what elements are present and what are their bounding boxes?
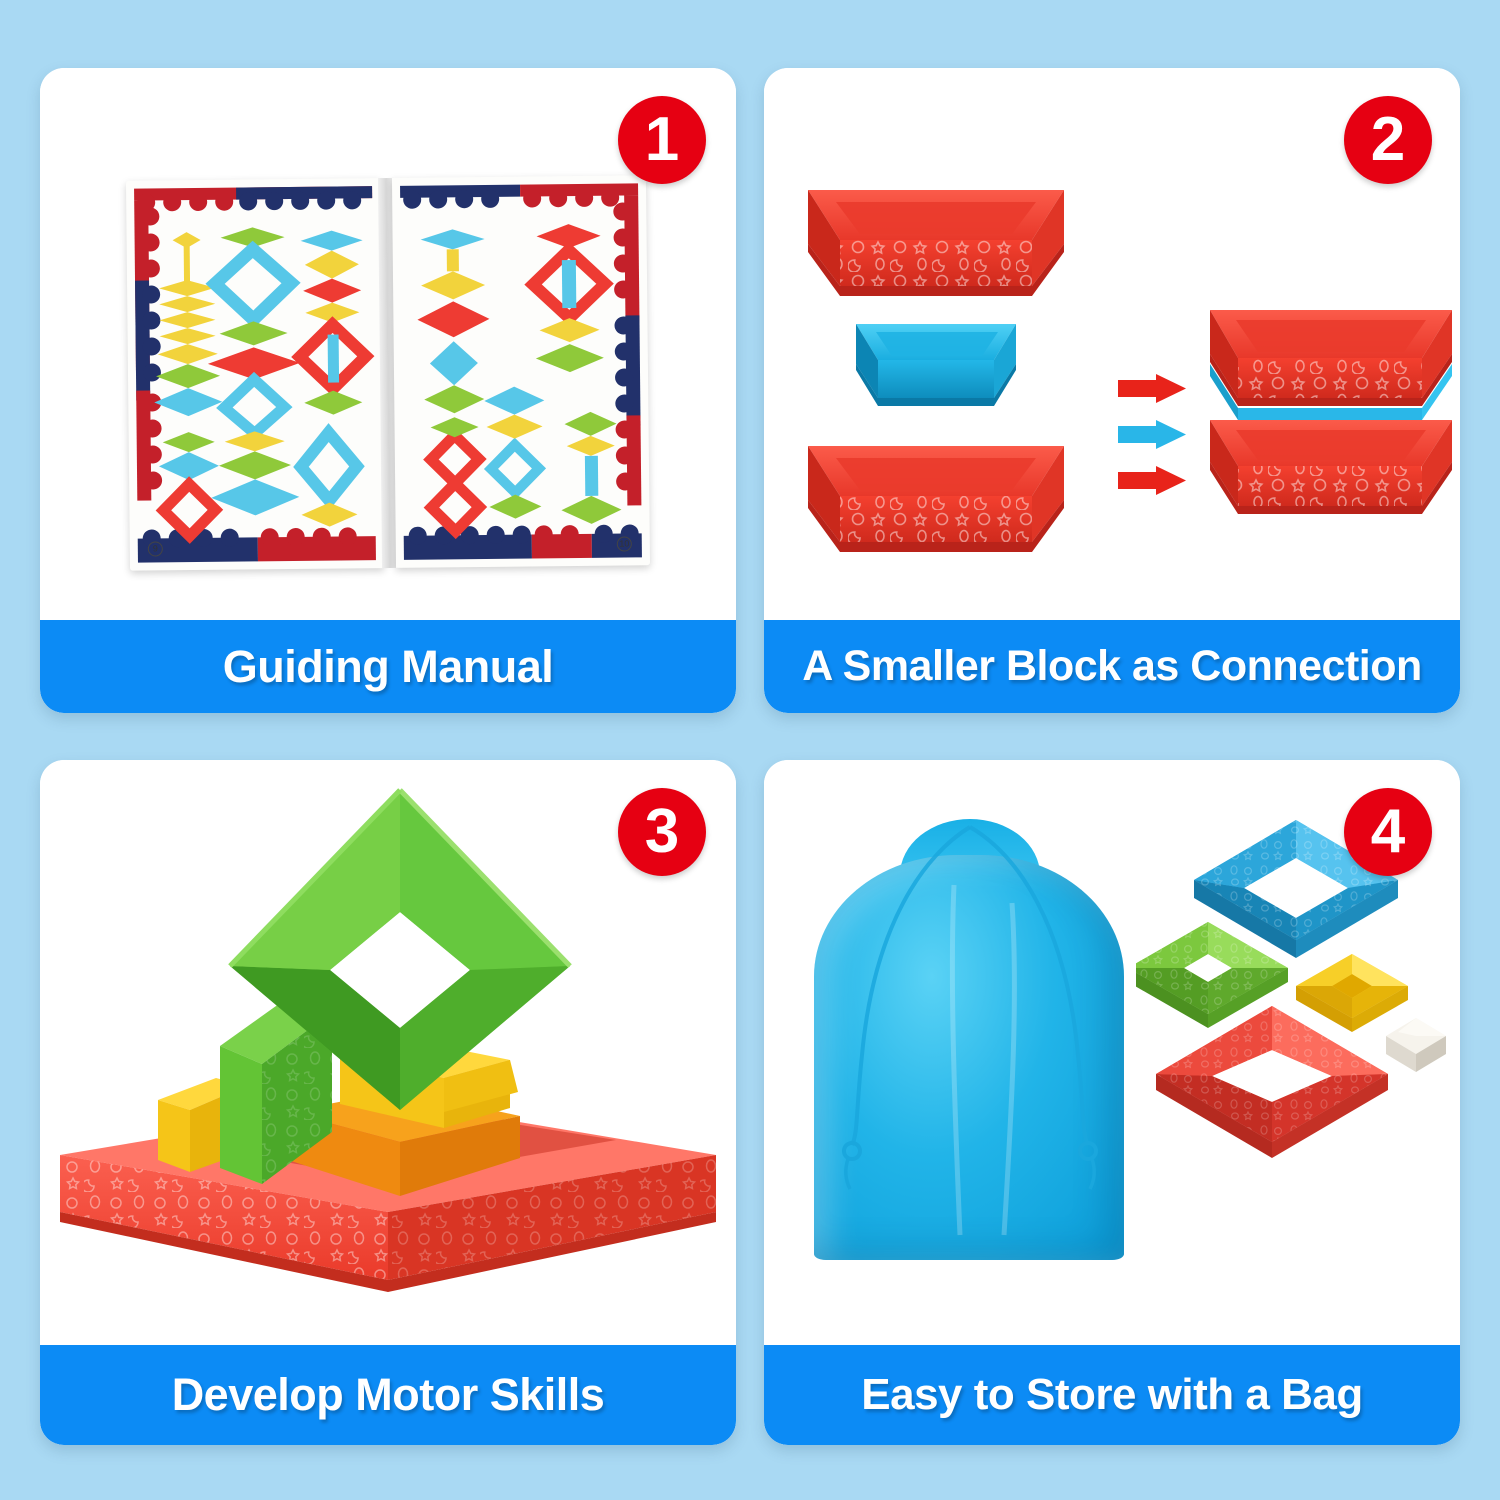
step-badge-3: 3 bbox=[618, 788, 706, 876]
feature-card-4: 4 bbox=[764, 760, 1460, 1445]
caption-bar-2: A Smaller Block as Connection bbox=[764, 620, 1460, 713]
caption-text-2: A Smaller Block as Connection bbox=[802, 642, 1422, 691]
panel-1-image-stage: 1 bbox=[40, 68, 736, 620]
red-block-bottom bbox=[808, 446, 1064, 552]
caption-text-4: Easy to Store with a Bag bbox=[861, 1370, 1362, 1420]
blue-drawstring-bag bbox=[804, 815, 1134, 1265]
feature-card-2: 2 bbox=[764, 68, 1460, 713]
step-badge-1: 1 bbox=[618, 96, 706, 184]
manual-page-number-left: 9 bbox=[148, 541, 163, 556]
panel-2-image-stage: 2 bbox=[764, 68, 1460, 620]
feature-card-1: 1 bbox=[40, 68, 736, 713]
arrow-red-top bbox=[1118, 374, 1186, 403]
blue-small-connector-block bbox=[856, 324, 1016, 406]
caption-text-1: Guiding Manual bbox=[223, 641, 553, 693]
yellow-pyramid-block bbox=[1296, 954, 1408, 1032]
manual-diagrams-left bbox=[126, 178, 384, 571]
assembled-red-stack bbox=[1210, 310, 1452, 514]
manual-page-left: 9 bbox=[126, 178, 384, 571]
feature-grid: 1 bbox=[0, 0, 1500, 1500]
caption-bar-1: Guiding Manual bbox=[40, 620, 736, 713]
step-badge-4: 4 bbox=[1344, 788, 1432, 876]
caption-bar-3: Develop Motor Skills bbox=[40, 1345, 736, 1445]
feature-card-3: 3 bbox=[40, 760, 736, 1445]
step-badge-2: 2 bbox=[1344, 96, 1432, 184]
panel-4-image-stage: 4 bbox=[764, 760, 1460, 1345]
red-block-top bbox=[808, 190, 1064, 296]
guiding-manual-booklet: 9 bbox=[126, 175, 650, 570]
manual-diagrams-right bbox=[392, 175, 650, 568]
caption-bar-4: Easy to Store with a Bag bbox=[764, 1345, 1460, 1445]
arrow-red-bottom bbox=[1118, 466, 1186, 495]
bag-drawstrings bbox=[804, 815, 1134, 1265]
storage-blocks-group bbox=[1136, 810, 1456, 1240]
manual-page-right: 10 bbox=[392, 175, 650, 568]
arrow-blue-middle bbox=[1118, 420, 1186, 449]
white-small-block bbox=[1386, 1018, 1446, 1072]
caption-text-3: Develop Motor Skills bbox=[172, 1369, 605, 1421]
panel-3-image-stage: 3 bbox=[40, 760, 736, 1345]
manual-page-number-right: 10 bbox=[617, 536, 632, 551]
